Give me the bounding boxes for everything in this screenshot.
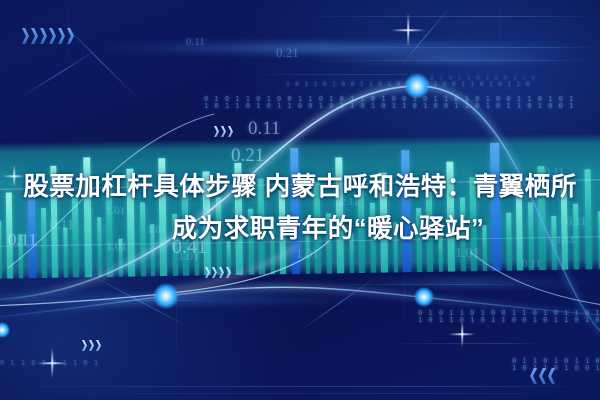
vignette-overlay <box>0 0 600 400</box>
banner-image: 0 1 0 1 1 0 1 0 0 1 1 0 1 0 1 1 0 1 0 0 … <box>0 0 600 400</box>
